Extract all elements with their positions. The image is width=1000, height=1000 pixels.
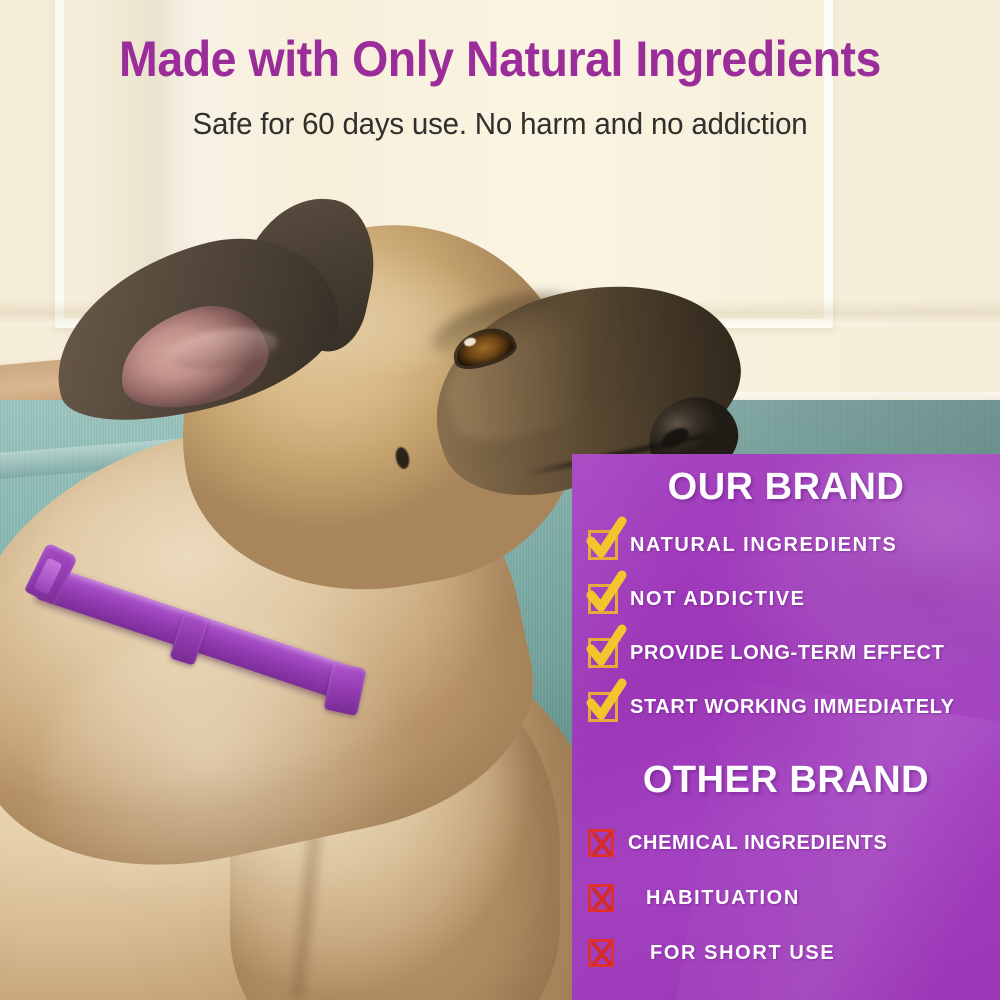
product-comparison-image: Made with Only Natural Ingredients Safe … (0, 0, 1000, 1000)
our-brand-item-2-label: NOT ADDICTIVE (630, 588, 806, 611)
our-brand-item-3-label: PROVIDE LONG-TERM EFFECT (630, 642, 944, 665)
our-brand-item-4-label: START WORKING IMMEDIATELY (630, 696, 955, 719)
other-brand-item-3: FOR SHORT USE (588, 939, 1000, 967)
other-brand-item-1: CHEMICAL INGREDIENTS (588, 829, 1000, 857)
cross-icon (588, 939, 614, 967)
our-brand-item-1: NATURAL INGREDIENTS (588, 530, 1000, 560)
our-brand-item-2: NOT ADDICTIVE (588, 584, 1000, 614)
flea-collar (28, 545, 373, 710)
checkmark-icon (588, 584, 618, 614)
our-brand-item-1-label: NATURAL INGREDIENTS (630, 534, 897, 557)
other-brand-item-2: HABITUATION (588, 884, 1000, 912)
our-brand-item-4: START WORKING IMMEDIATELY (588, 692, 1000, 722)
checkmark-icon (588, 638, 618, 668)
other-brand-item-3-label: FOR SHORT USE (650, 942, 835, 965)
cross-icon (588, 829, 614, 857)
our-brand-heading: OUR BRAND (572, 466, 1000, 509)
comparison-panel: OUR BRAND NATURAL INGREDIENTS NOT ADDICT… (572, 454, 1000, 1000)
other-brand-heading: OTHER BRAND (572, 759, 1000, 802)
our-brand-item-3: PROVIDE LONG-TERM EFFECT (588, 638, 1000, 668)
page-title: Made with Only Natural Ingredients (35, 30, 965, 88)
checkmark-icon (588, 692, 618, 722)
other-brand-item-1-label: CHEMICAL INGREDIENTS (628, 832, 887, 855)
other-brand-item-2-label: HABITUATION (646, 887, 800, 910)
checkmark-icon (588, 530, 618, 560)
cross-icon (588, 884, 614, 912)
page-subtitle: Safe for 60 days use. No harm and no add… (25, 106, 975, 142)
